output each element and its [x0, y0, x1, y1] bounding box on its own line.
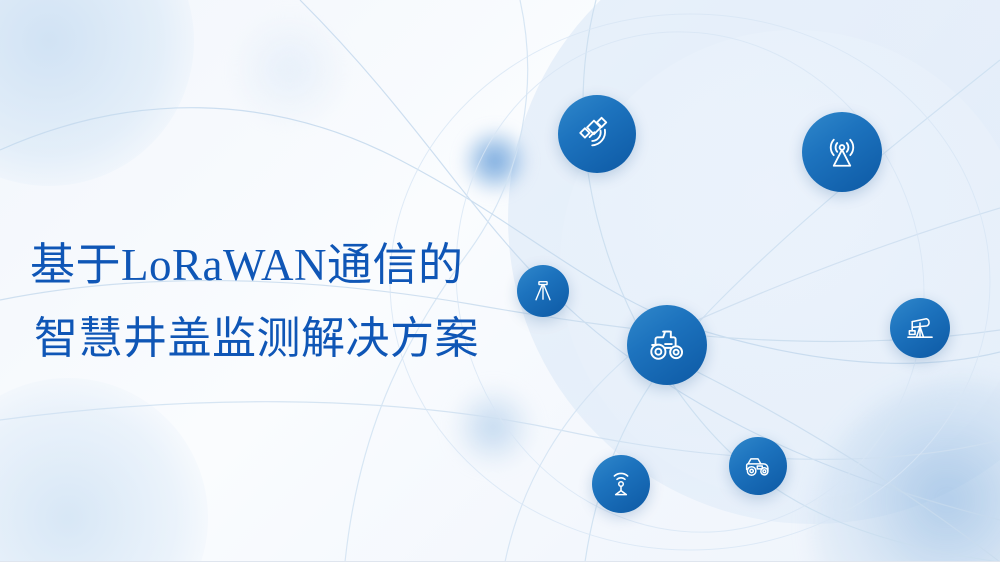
- node-antenna[interactable]: [802, 112, 882, 192]
- node-satellite[interactable]: [558, 95, 636, 173]
- node-pumpjack[interactable]: [890, 298, 950, 358]
- signal-beacon-icon: [605, 468, 637, 500]
- node-harvester[interactable]: [729, 437, 787, 495]
- node-tractor[interactable]: [627, 305, 707, 385]
- tractor-icon: [644, 322, 690, 368]
- title-line-1: 基于LoRaWAN通信的: [30, 228, 590, 302]
- radio-tower-icon: [820, 130, 864, 174]
- title-line-2: 智慧井盖监测解决方案: [30, 302, 590, 376]
- node-beacon[interactable]: [592, 455, 650, 513]
- title-block: 基于LoRaWAN通信的 智慧井盖监测解决方案: [30, 228, 590, 376]
- harvester-icon: [741, 449, 775, 483]
- oil-pumpjack-icon: [903, 311, 937, 345]
- title-slide: 基于LoRaWAN通信的 智慧井盖监测解决方案: [0, 0, 1000, 562]
- satellite-icon: [576, 113, 618, 155]
